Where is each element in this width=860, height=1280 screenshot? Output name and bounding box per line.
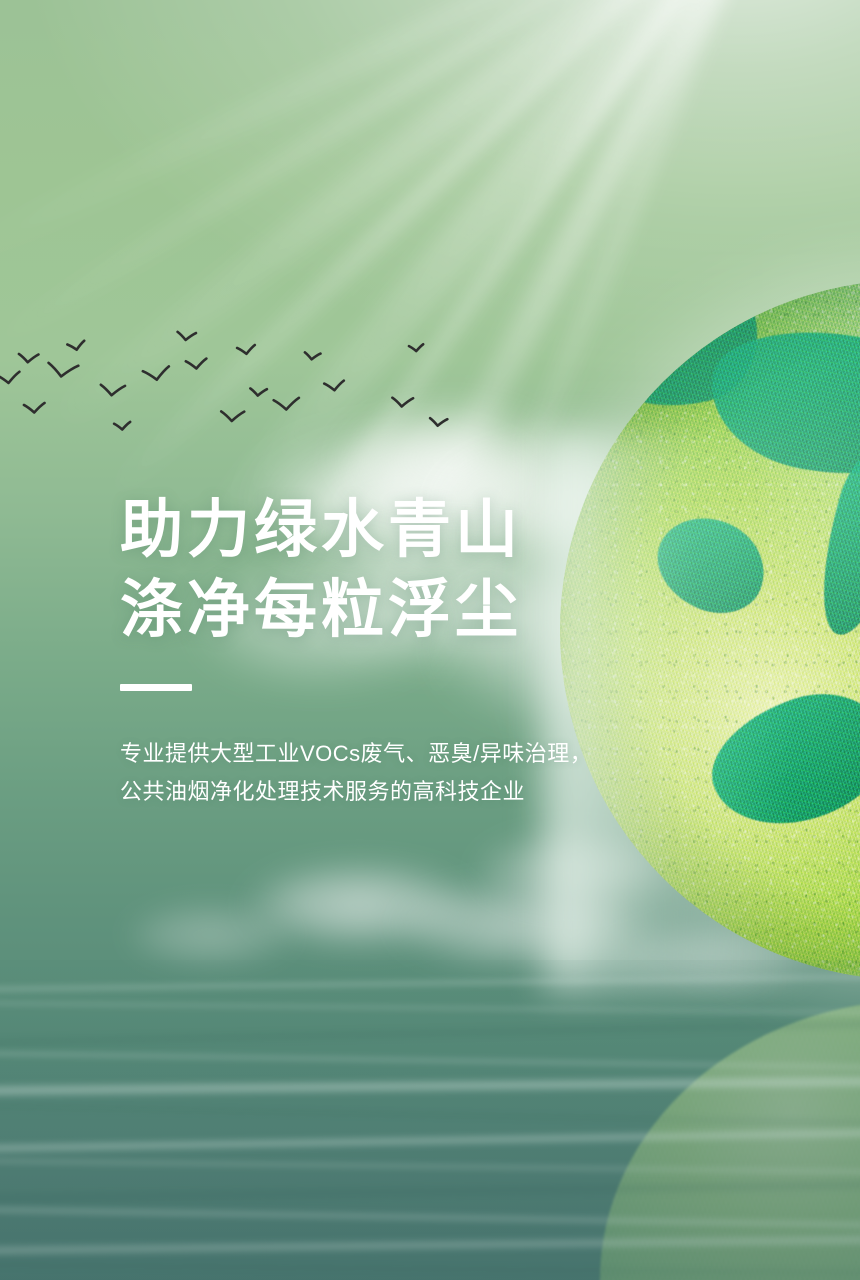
bird-icon	[429, 417, 447, 426]
bird-icon	[237, 345, 256, 355]
bird-icon	[143, 366, 171, 381]
subtitle-line-2: 公共油烟净化处理技术服务的高科技企业	[120, 773, 760, 811]
globe-reflection	[600, 1000, 860, 1280]
bird-icon	[274, 398, 300, 410]
subtitle-line-1: 专业提供大型工业VOCs废气、恶臭/异味治理，	[120, 735, 760, 773]
bird-icon	[18, 353, 38, 363]
bird-icon	[250, 388, 267, 397]
copy-block: 助力绿水青山 涤净每粒浮尘 专业提供大型工业VOCs废气、恶臭/异味治理， 公共…	[120, 490, 760, 811]
bird-icon	[24, 403, 45, 413]
bird-icon	[186, 359, 207, 370]
headline-line-2: 涤净每粒浮尘	[120, 570, 760, 650]
eco-hero-poster: 助力绿水青山 涤净每粒浮尘 专业提供大型工业VOCs废气、恶臭/异味治理， 公共…	[0, 0, 860, 1280]
bird-icon	[114, 422, 131, 430]
cloud	[240, 860, 480, 950]
bird-icon	[100, 384, 125, 397]
bird-icon	[67, 341, 85, 351]
bird-icon	[221, 410, 244, 421]
birds-flock-icon	[0, 330, 520, 460]
bird-icon	[324, 381, 345, 392]
bird-icon	[392, 397, 413, 407]
cloud	[120, 900, 300, 970]
bird-icon	[304, 352, 320, 361]
reflection-texture	[600, 1000, 860, 1280]
bird-icon	[409, 344, 424, 351]
bird-icon	[47, 362, 78, 379]
divider-rule	[120, 684, 192, 691]
bird-icon	[0, 372, 20, 384]
bird-icon	[177, 331, 196, 341]
headline-line-1: 助力绿水青山	[120, 490, 760, 570]
